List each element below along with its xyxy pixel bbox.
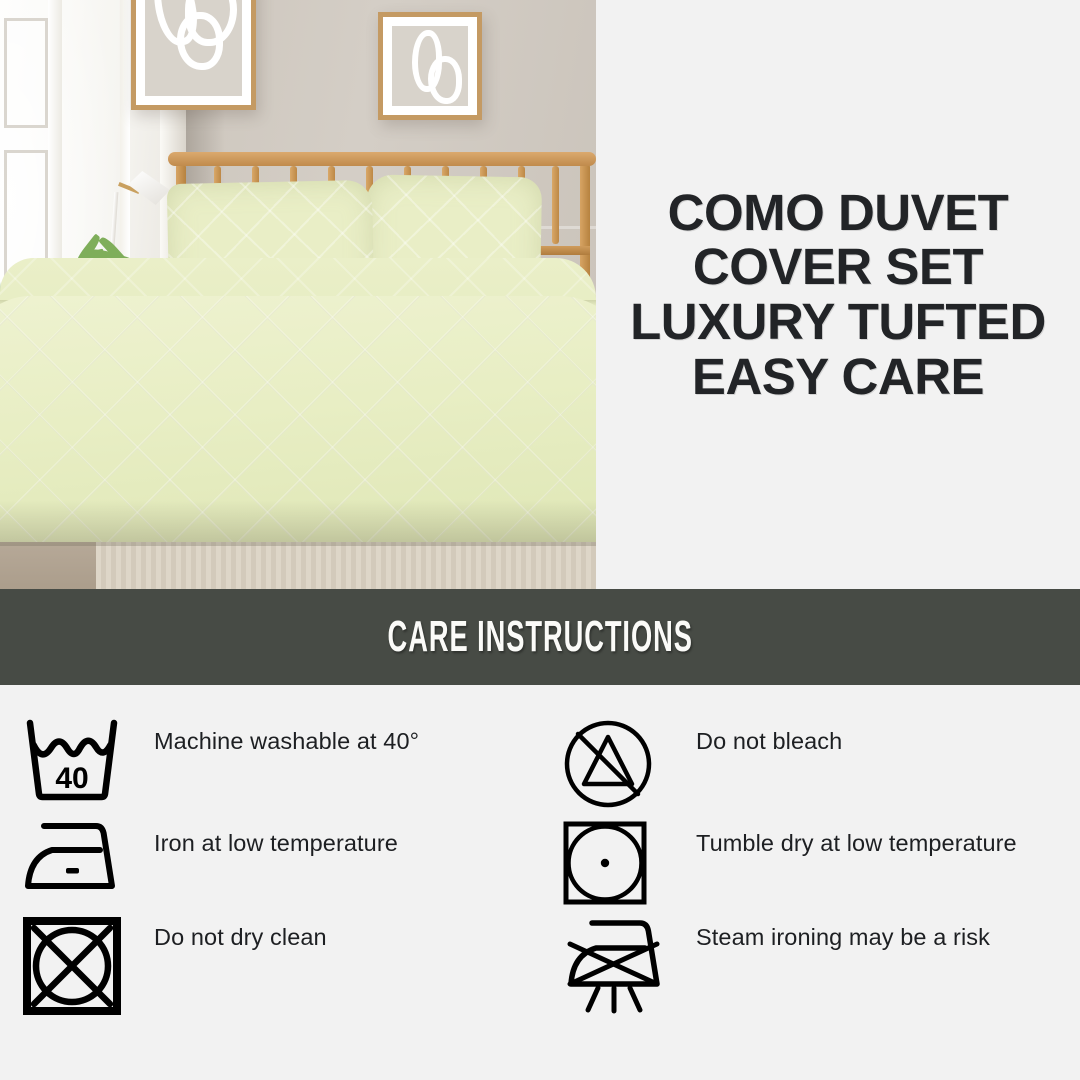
care-item-tumble-dry: Tumble dry at low temperature	[540, 798, 1080, 898]
care-item-label: Do not dry clean	[126, 916, 327, 953]
care-instructions-heading: CARE INSTRUCTIONS	[387, 612, 692, 662]
product-title: COMO DUVET COVER SET LUXURY TUFTED EASY …	[596, 186, 1080, 404]
care-item-iron-low: Iron at low temperature	[0, 798, 540, 898]
care-item-label: Do not bleach	[666, 720, 842, 757]
machine-wash-40-icon: 40	[22, 718, 126, 802]
do-not-dry-clean-icon	[22, 916, 126, 1016]
care-item-no-steam-ironing: Steam ironing may be a risk	[540, 898, 1080, 1028]
door-inset-upper	[4, 18, 48, 128]
care-item-do-not-dry-clean: Do not dry clean	[0, 898, 540, 1028]
product-lifestyle-photo	[0, 0, 596, 590]
art-canvas	[392, 26, 468, 106]
steam-line	[588, 988, 598, 1010]
framed-art-large	[131, 0, 256, 110]
care-instructions-band: CARE INSTRUCTIONS	[0, 589, 1080, 685]
title-panel: COMO DUVET COVER SET LUXURY TUFTED EASY …	[596, 0, 1080, 590]
care-item-label: Machine washable at 40°	[126, 720, 419, 757]
top-section: COMO DUVET COVER SET LUXURY TUFTED EASY …	[0, 0, 1080, 590]
iron-low-temperature-icon	[22, 820, 126, 892]
product-care-infographic: COMO DUVET COVER SET LUXURY TUFTED EASY …	[0, 0, 1080, 1080]
tumble-dry-heat-dot	[601, 859, 609, 867]
care-item-label: Steam ironing may be a risk	[666, 916, 990, 953]
care-item-label: Iron at low temperature	[126, 822, 398, 859]
care-item-do-not-bleach: Do not bleach	[540, 690, 1080, 798]
steam-line	[630, 988, 640, 1010]
frame-mount	[383, 17, 477, 115]
abstract-line-shape	[177, 12, 223, 70]
wash-temperature-value: 40	[55, 762, 88, 795]
framed-art-small	[378, 12, 482, 120]
care-item-label: Tumble dry at low temperature	[666, 822, 1017, 859]
abstract-line-shape	[428, 56, 462, 104]
tumble-dry-low-icon	[562, 820, 666, 906]
duvet-drop-shadow	[0, 500, 596, 546]
headboard-top-rail	[168, 152, 596, 166]
art-canvas	[145, 0, 242, 96]
do-not-bleach-icon	[562, 718, 666, 810]
headboard-spindle	[552, 166, 559, 244]
iron-heat-dot	[66, 868, 79, 874]
care-symbols-grid: 40 Machine washable at 40° Do not bleach	[0, 690, 1080, 1080]
frame-mount	[136, 0, 251, 105]
no-steam-ironing-icon	[562, 916, 666, 1016]
headboard-post-right	[580, 163, 590, 283]
care-item-machine-wash: 40 Machine washable at 40°	[0, 690, 540, 798]
